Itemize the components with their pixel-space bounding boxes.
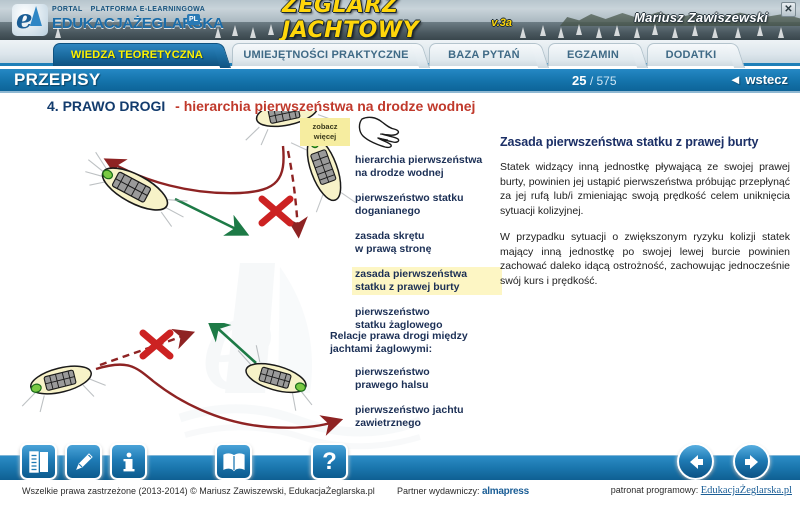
- list-item-line1: zasada skrętu: [355, 230, 499, 243]
- list-item[interactable]: pierwszeństwo statku żaglowego: [352, 305, 502, 333]
- footer-copyright: Wszelkie prawa zastrzeżone (2013-2014) ©…: [22, 486, 375, 496]
- header-banner: e PORTALPLATFORMA E-LEARNINGOWA EDUKACJA…: [0, 0, 800, 40]
- footer-partner: Partner wydawniczy: almapress: [397, 486, 529, 497]
- footer-patron-link[interactable]: EdukacjaŻeglarska.pl: [701, 485, 792, 496]
- logo-portal-word: PORTAL: [52, 6, 83, 13]
- tab-wiedza-teoretyczna[interactable]: WIEDZA TEORETYCZNA: [53, 43, 221, 66]
- list-item-line1: pierwszeństwo: [355, 306, 499, 319]
- next-page-button[interactable]: [733, 443, 770, 480]
- relations-heading: Relacje prawa drogi między jachtami żagl…: [330, 330, 505, 356]
- relations-heading-line2: jachtami żaglowymi:: [330, 343, 505, 356]
- boat-left-upper: [78, 151, 191, 231]
- glossary-button[interactable]: [215, 443, 252, 480]
- list-item-line2: prawego halsu: [355, 379, 509, 392]
- list-item-line2: statku z prawej burty: [355, 281, 499, 294]
- description-paragraph-1: Statek widzący inną jednostkę pływającą …: [500, 160, 790, 218]
- description-title: Zasada pierwszeństwa statku z prawej bur…: [500, 135, 790, 149]
- description-paragraph-2: W przypadku sytuacji o zwiększonym ryzyk…: [500, 230, 790, 288]
- page-footer: Wszelkie prawa zastrzeżone (2013-2014) ©…: [0, 480, 800, 506]
- tab-umiejetnosci-praktyczne[interactable]: UMIEJĘTNOŚCI PRAKTYCZNE: [232, 43, 420, 66]
- page-counter: 25 / 575: [572, 73, 617, 88]
- almapress-logo: almapress: [482, 486, 529, 497]
- page-separator: /: [590, 74, 593, 88]
- bottom-toolbar: ?: [0, 455, 800, 480]
- topic-list: hierarchia pierwszeństwa na drodze wodne…: [352, 153, 502, 343]
- close-icon[interactable]: ✕: [781, 2, 796, 17]
- list-item[interactable]: pierwszeństwo prawego halsu: [352, 365, 512, 393]
- boat-right-lower: [227, 341, 324, 415]
- logo-platform-word: PLATFORMA E-LEARNINGOWA: [91, 6, 206, 13]
- site-logo[interactable]: e PORTALPLATFORMA E-LEARNINGOWA EDUKACJA…: [12, 3, 197, 37]
- description-panel: Zasada pierwszeństwa statku z prawej bur…: [500, 135, 790, 300]
- help-button[interactable]: ?: [311, 443, 348, 480]
- list-item-line1: pierwszeństwo jachtu: [355, 404, 509, 417]
- info-button[interactable]: [110, 443, 147, 480]
- list-item-line2: doganianego: [355, 205, 499, 218]
- main-tabbar: WIEDZA TEORETYCZNA UMIEJĘTNOŚCI PRAKTYCZ…: [0, 40, 800, 66]
- logo-pl-badge: PL: [187, 14, 200, 25]
- prev-page-button[interactable]: [677, 443, 714, 480]
- edit-button[interactable]: [65, 443, 102, 480]
- page-current: 25: [572, 73, 586, 88]
- book-icon: [222, 452, 246, 472]
- relations-list: pierwszeństwo prawego halsu pierwszeństw…: [352, 365, 512, 441]
- list-item-line1: pierwszeństwo: [355, 366, 509, 379]
- question-mark-icon: ?: [322, 450, 337, 474]
- list-item-line1: zasada pierwszeństwa: [355, 268, 499, 281]
- app-root: e PORTALPLATFORMA E-LEARNINGOWA EDUKACJA…: [0, 0, 800, 506]
- forbidden-x-icon: [262, 199, 290, 223]
- arrow-right-icon: [743, 453, 761, 471]
- pointing-hand-icon: [356, 115, 402, 149]
- tooltip-line2: więcej: [314, 132, 337, 142]
- diagram-lower-right-of-way: [18, 323, 348, 448]
- user-name-label: Mariusz Zawiszewski: [634, 10, 768, 25]
- page-total: 575: [597, 74, 617, 88]
- section-titlebar: PRZEPISY 25 / 575 ◄ wstecz: [0, 69, 800, 91]
- tab-baza-pytan[interactable]: BAZA PYTAŃ: [429, 43, 539, 66]
- info-icon: [120, 451, 138, 473]
- footer-patron: patronat programowy: EdukacjaŻeglarska.p…: [611, 485, 792, 496]
- list-item-line1: pierwszeństwo statku: [355, 192, 499, 205]
- list-item[interactable]: pierwszeństwo jachtu zawietrznego: [352, 403, 512, 431]
- relations-heading-line1: Relacje prawa drogi między: [330, 330, 505, 343]
- tab-dodatki[interactable]: DODATKI: [647, 43, 735, 66]
- list-item-line2: w prawą stronę: [355, 243, 499, 256]
- arrow-left-icon: [687, 453, 705, 471]
- footer-patron-label: patronat programowy:: [611, 485, 699, 495]
- list-item[interactable]: zasada skrętu w prawą stronę: [352, 229, 502, 257]
- footer-partner-label: Partner wydawniczy:: [397, 486, 480, 496]
- logo-tagline: PORTALPLATFORMA E-LEARNINGOWA: [52, 6, 205, 13]
- notes-icon: [29, 451, 49, 473]
- back-button[interactable]: ◄ wstecz: [729, 72, 788, 87]
- section-title: PRZEPISY: [14, 70, 100, 90]
- tooltip-line1: zobacz: [312, 122, 337, 132]
- forbidden-x-icon-lower: [143, 333, 170, 356]
- course-title-version: v.3a: [491, 17, 512, 29]
- list-item[interactable]: hierarchia pierwszeństwa na drodze wodne…: [352, 153, 502, 181]
- course-title: ŻEGLARZ JACHTOWY v.3a: [282, 5, 512, 31]
- course-title-main: ŻEGLARZ JACHTOWY: [282, 0, 485, 40]
- page-content: 4. PRAWO DROGI - hierarchia pierwszeństw…: [0, 93, 800, 440]
- notes-button[interactable]: [20, 443, 57, 480]
- list-item-active[interactable]: zasada pierwszeństwa statku z prawej bur…: [352, 267, 502, 295]
- list-item-line2: zawietrznego: [355, 417, 509, 430]
- logo-letter-e: e: [16, 7, 33, 33]
- pencil-icon: [73, 451, 95, 473]
- see-more-tooltip[interactable]: zobacz więcej: [300, 118, 350, 146]
- list-item[interactable]: pierwszeństwo statku doganianego: [352, 191, 502, 219]
- tab-egzamin[interactable]: EGZAMIN: [548, 43, 638, 66]
- list-item-line2: na drodze wodnej: [355, 167, 499, 180]
- list-item-line1: hierarchia pierwszeństwa: [355, 154, 499, 167]
- boat-left-lower: [18, 358, 108, 416]
